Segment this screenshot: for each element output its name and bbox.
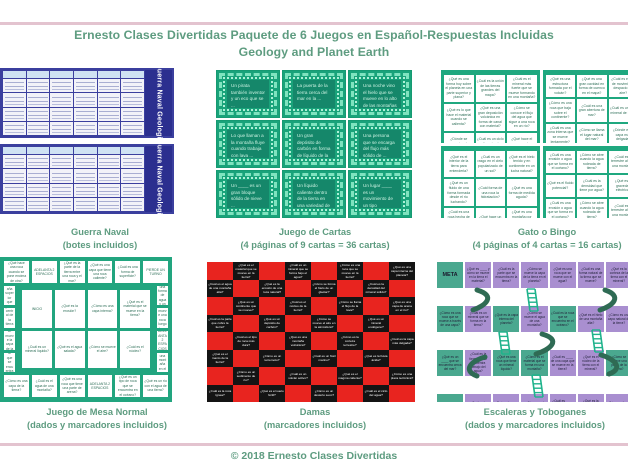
bingo-card: Geología y Planeta Tierra Gato o Bingo¿Q… — [441, 146, 540, 219]
snakes-tile: ¿Cómo es el material que se forma en una… — [521, 350, 547, 376]
battleship-cell — [50, 108, 73, 121]
snakes-row: META¿Qué es ____ y cómo se mueve en la t… — [437, 262, 628, 288]
battleship-cell — [3, 79, 26, 92]
battleship-cell — [27, 108, 50, 121]
bingo-grid: ¿Qué es una forma hoy sobre el planeta e… — [444, 75, 537, 143]
snakes-tile: ¿Cuál es ____ de una capa que se mueve e… — [550, 350, 576, 376]
battleship-sheet: Guerra Naval Geología — [0, 144, 174, 214]
snakes-tile: ¿Qué es una roca que tiene un mineral lí… — [493, 350, 519, 376]
caption-title: Escaleras y Toboganes — [430, 406, 628, 419]
checkers-red-square — [233, 315, 259, 333]
checkers-dark-square: ¿Cuál es el núcleo de la tierra? — [285, 297, 311, 315]
checkers-red-square — [259, 332, 285, 350]
card-question-text: Una persona que se encarga del flujo más… — [359, 130, 401, 158]
game-card: Un lugar ____ es un movimiento de un tip… — [348, 170, 412, 218]
bingo-cell: ¿Qué es una forma hoy sobre el planeta e… — [444, 75, 474, 102]
caption-juego-de-cartas: Juego de Cartas (4 páginas of 9 cartas =… — [205, 226, 425, 251]
checkers-red-square — [389, 350, 415, 368]
card-question-text: Un líquido caliente dentro de la tierra … — [293, 180, 335, 208]
boardgame-tile: ¿Qué es un tipo de roca que se encuentra… — [115, 375, 140, 397]
checkers-red-square — [389, 280, 415, 298]
bingo-cell: ¿Qué es un fluido de una forma formada d… — [444, 179, 474, 206]
bingo-cell: ¿Qué hace el agua cuando se mueve en el … — [507, 133, 537, 143]
checkers-red-square — [337, 350, 363, 368]
checkers-dark-square: ¿Qué es el manto de la tierra? — [207, 350, 233, 368]
checkers-red-square — [207, 367, 233, 385]
caption-title: Juego de Mesa Normal — [0, 406, 197, 419]
boardgame-center-tile: ¿Cómo es una capa interna? — [88, 290, 118, 328]
checkers-dark-square: ¿Cómo es la corteza terrestre? — [337, 332, 363, 350]
checkers-red-square — [363, 332, 389, 350]
battleship-cell — [50, 93, 73, 106]
boardgame-tile: ¿Cómo se mueve una roca luego de un cont… — [157, 308, 168, 327]
product-thumbnail-juego-de-cartas[interactable]: Un pirata también inventor y un eco que … — [216, 70, 412, 218]
bingo-cell: ¿Cuál es una erosión o agua que se forma… — [546, 199, 576, 218]
page-title-line2: Geology and Planet Earth — [0, 44, 628, 61]
bingo-card: Geología y Planeta Tierra Gato o Bingo¿Q… — [543, 70, 628, 143]
poster-page: Ernesto Clases Divertidas Paquete de 6 J… — [0, 0, 628, 472]
checkers-dark-square: ¿Cuál es la densidad del mineral sólido? — [363, 280, 389, 298]
boardgame-tile: ¿Cuál es el agua de una montaña? — [32, 375, 57, 397]
battleship-cell — [3, 198, 26, 211]
battleship-cell — [27, 122, 50, 135]
boardgame-right-column: ¿Qué es una forma de agua y un gran río?… — [157, 286, 168, 372]
bingo-cell: ¿Cómo se abre cuando la agua rodeada de … — [577, 199, 607, 218]
checkers-red-square — [207, 262, 233, 280]
game-card: Lo que llaman a la montaña fluye cuando … — [216, 120, 280, 168]
battleship-cell — [74, 93, 97, 106]
checkers-red-square — [311, 367, 337, 385]
boardgame-bottom-row: ¿Cómo es una capa de la tierra?¿Cuál es … — [4, 375, 168, 397]
bingo-cell: ¿Cuál es la densidad que tiene por agua? — [577, 175, 607, 197]
battleship-cell — [121, 122, 144, 135]
battleship-column-header — [50, 71, 73, 78]
boardgame-top-row: ¿Qué hace una roca cuando se pone encima… — [4, 261, 168, 283]
snakes-tile: ¿Cuál es un mineral que se forma en la t… — [465, 306, 491, 332]
bingo-cell: ¿Qué es una gran cavidad en forma de cue… — [577, 75, 607, 97]
bingo-cell: ¿Qué hace un mineral hidratado y nuevo? — [476, 208, 506, 218]
copyright-footer: © 2018 Ernesto Clases Divertidas — [0, 450, 628, 462]
card-question-text: La puerta de la tierra cerca del mar en … — [293, 80, 335, 108]
boardgame-center-tile: ¿Cómo se mueve el aire? — [88, 331, 118, 369]
battleship-sheet: Guerra Naval Geología — [0, 68, 174, 138]
card-question-text: Una noche vino el hielo que se mueve en … — [359, 80, 401, 108]
boardgame-center-tile: ¿Cuál es el núcleo? — [120, 331, 150, 369]
battleship-cell — [27, 169, 50, 182]
snakes-tile: ¿Cuál es ____ del agua que se mueve en l… — [550, 394, 576, 402]
bingo-cell: ¿Cuál es una erosión o agua que se forma… — [546, 151, 576, 173]
caption-escaleras-y-toboganes: Escaleras y Toboganes (dados y marcadore… — [430, 406, 628, 431]
bingo-cell: ¿Dónde se encuentran los minerales volcá… — [444, 133, 474, 143]
battleship-cell — [121, 184, 144, 197]
battleship-column-header — [74, 147, 97, 154]
battleship-cell — [27, 198, 50, 211]
bingo-cell: ¿Cuál es una roca hecha de núcleo de agu… — [444, 208, 474, 218]
battleship-column-header — [27, 147, 50, 154]
checkers-dark-square: ¿Cuál es un volcán activo? — [285, 367, 311, 385]
battleship-cell — [121, 198, 144, 211]
caption-title: Damas — [205, 406, 425, 419]
boardgame-board: ¿Qué hace una roca cuando se pone encima… — [0, 257, 172, 402]
bingo-cell: ¿Cuál es una zona interna que se mueve l… — [546, 124, 576, 143]
bingo-cell: ¿Cómo es una roca que baja sobre el cont… — [546, 99, 576, 121]
bingo-grid: ¿Qué es el interior de la tierra para en… — [444, 151, 537, 219]
battleship-column-header — [98, 71, 121, 78]
checkers-red-square — [389, 315, 415, 333]
checkers-red-square — [285, 280, 311, 298]
boardgame-tile: ¿Qué es una forma de agua y un gran río? — [157, 286, 168, 305]
boardgame-center-tile: ¿Qué es la erosión? — [55, 290, 85, 328]
boardgame-tile: ¿Por qué se mueve la capa de la tierra? — [4, 331, 15, 350]
battleship-cell — [3, 169, 26, 182]
snakes-tile: ¿Cómo se mueve la capa de la tierra en e… — [521, 262, 547, 288]
checkers-red-square — [363, 297, 389, 315]
game-card: La puerta de la tierra cerca del mar en … — [282, 70, 346, 118]
bingo-cell: ¿Cómo se llama el lugar natural del mar? — [577, 124, 607, 143]
top-divider-rule — [0, 22, 628, 25]
boardgame-tile: ¿Qué hace una roca cuando se pone encima… — [4, 261, 29, 283]
snakes-tile: ¿Cuál es la forma de la tierra que se mu… — [465, 394, 491, 402]
boardgame-tile: ¿Qué es una roca que tiene una parte de … — [60, 375, 85, 397]
checkers-red-square — [311, 297, 337, 315]
boardgame-tile: ¿Qué es una montaña superior que se muev… — [4, 286, 15, 305]
bingo-cell: ¿Cuál es el tipo de movimiento despacio … — [609, 75, 628, 97]
battleship-column-header — [3, 147, 26, 154]
battleship-cell — [121, 155, 144, 168]
page-title-line1: Ernesto Clases Divertidas Paquete de 6 J… — [0, 27, 628, 44]
boardgame-tile: ADELANTA 2 ESPACIOS — [157, 331, 168, 350]
checkers-red-square — [311, 262, 337, 280]
snakes-tile: ¿Qué es la corteza de la tierra con el m… — [606, 262, 628, 288]
battleship-cell — [98, 108, 121, 121]
checkers-dark-square: ¿Qué es el material que se mueve en la t… — [233, 262, 259, 280]
snakes-start-tile: INICIO — [437, 394, 463, 402]
checkers-red-square — [337, 385, 363, 403]
caption-detail: (dados y marcadores incluidos) — [430, 419, 628, 432]
battleship-cell — [98, 122, 121, 135]
checkers-red-square — [233, 350, 259, 368]
battleship-grid — [2, 70, 145, 136]
boardgame-tile: ¿Qué es una parte central de la tierra q… — [4, 308, 15, 327]
checkers-red-square — [337, 315, 363, 333]
battleship-cell — [50, 155, 73, 168]
battleship-cell — [74, 122, 97, 135]
snakes-tile: ¿Cuál es una forma natural de la tierra … — [578, 262, 604, 288]
battleship-side-label: Guerra Naval Geología — [155, 139, 162, 218]
checkers-dark-square: ¿Qué es la lluvia ácida? — [363, 350, 389, 368]
snakes-end-tile: META — [437, 262, 463, 288]
bingo-cell: ¿Cuál es el terrestre alto de una montañ… — [609, 199, 628, 218]
bingo-cards-wrap: Geología y Planeta Tierra Gato o Bingo¿Q… — [441, 70, 628, 218]
boardgame-tile: ADELANTA 2 ESPACIOS — [88, 375, 113, 397]
checkers-dark-square: ¿Cómo se mueve el aire en la atmósfera? — [311, 315, 337, 333]
battleship-cell — [98, 79, 121, 92]
battleship-column-header — [74, 71, 97, 78]
battleship-cell — [121, 79, 144, 92]
product-thumbnail-gato-o-bingo[interactable]: Geología y Planeta Tierra Gato o Bingo¿Q… — [441, 70, 628, 218]
boardgame-tile: ¿Cómo es una capa de la tierra? — [4, 375, 29, 397]
caption-damas: Damas (marcadores incluidos) — [205, 406, 425, 431]
checkers-red-square — [285, 315, 311, 333]
checkers-dark-square: ¿Cuál es la roca ígnea? — [207, 385, 233, 403]
caption-detail: (marcadores incluidos) — [205, 419, 425, 432]
caption-detail: (dados y marcadores incluidos) — [0, 419, 197, 432]
snakes-tile: ¿Cómo es una roca que se mueve a través … — [437, 306, 463, 332]
boardgame-center-tile: ¿Qué es el agua salada? — [55, 331, 85, 369]
game-card: Una noche vino el hielo que se mueve en … — [348, 70, 412, 118]
checkers-dark-square: ¿Qué es una montaña volcánica? — [285, 332, 311, 350]
checkers-red-square — [207, 297, 233, 315]
caption-detail: (4 páginas of 9 cartas = 36 cartas) — [205, 239, 425, 252]
snakes-tile: ¿Qué es la capa interna del planeta? — [493, 306, 519, 332]
snakes-row: ¿Qué es un ____ que se encuentra cerca d… — [437, 350, 628, 376]
battleship-column-header — [121, 147, 144, 154]
checkers-red-square — [259, 367, 285, 385]
checkers-dark-square: ¿Cuál es un mineral que se forma bajo el… — [285, 262, 311, 280]
product-thumbnail-escaleras-y-toboganes[interactable]: META¿Qué es ____ y cómo se mueve en la t… — [437, 262, 628, 402]
battleship-cell — [98, 198, 121, 211]
battleship-cell — [27, 79, 50, 92]
bingo-card: Geología y Planeta Tierra Gato o Bingo¿Q… — [441, 70, 540, 143]
checkers-dark-square: ¿Qué es una capa de arena en el río? — [389, 297, 415, 315]
checkers-dark-square: ¿Cuál es la capa más delgada? — [389, 332, 415, 350]
snakes-board: META¿Qué es ____ y cómo se mueve en la t… — [437, 262, 628, 402]
caption-title: Guerra Naval — [0, 226, 200, 239]
checkers-red-square — [207, 332, 233, 350]
boardgame-tile: ¿Qué es un río con el agua de una tierra… — [143, 375, 168, 397]
product-thumbnail-guerra-naval[interactable]: Guerra Naval Geología Guerra Naval Geolo… — [0, 68, 174, 218]
card-question-text: Lo que llaman a la montaña fluye cuando … — [227, 130, 269, 158]
battleship-cell — [27, 93, 50, 106]
caption-detail: (botes incluidos) — [0, 239, 200, 252]
card-question-text: Un ____ es un gran bloque sólido de niev… — [227, 180, 269, 208]
checkers-dark-square: ¿Qué es una capa interna del planeta? — [389, 262, 415, 280]
battleship-cell — [3, 108, 26, 121]
checkers-dark-square: ¿Cómo se forma el hielo de un glaciar? — [311, 280, 337, 298]
bingo-cell: ¿Cuál es un gran mineral de lava? — [609, 99, 628, 121]
battleship-cell — [50, 184, 73, 197]
battleship-cell — [98, 169, 121, 182]
checkers-dark-square: ¿Qué es el suelo fértil? — [259, 385, 285, 403]
caption-gato-o-bingo: Gato o Bingo (4 páginas of 4 cartas = 16… — [437, 226, 628, 251]
bingo-cell: ¿Cuál es el terrestre alto de una montañ… — [609, 151, 628, 173]
battleship-cell — [121, 108, 144, 121]
snakes-tile: ¿Qué es la capa que se forma en una roca… — [493, 394, 519, 402]
checkers-red-square — [285, 385, 311, 403]
boardgame-tile: ¿Cuál es un mineral que se encuentra en … — [4, 353, 15, 372]
boardgame-tile: ¿Qué es la parte de la tierra entre una … — [60, 261, 85, 283]
battleship-cell — [50, 198, 73, 211]
checkers-red-square — [259, 262, 285, 280]
checkers-dark-square: ¿Cuál es un fósil marino? — [311, 350, 337, 368]
game-card: Un ____ es un gran bloque sólido de niev… — [216, 170, 280, 218]
snakes-tile: ¿Qué es ____ y cómo se mueve en la tierr… — [465, 262, 491, 288]
game-card: Una persona que se encarga del flujo más… — [348, 120, 412, 168]
checkers-red-square — [389, 385, 415, 403]
battleship-cell — [3, 184, 26, 197]
bingo-cell: ¿Qué es el hielo tenido y en continente … — [507, 151, 537, 178]
boardgame-center-tile: ¿Qué es el material que se mueve en la t… — [120, 290, 150, 328]
boardgame-center-tile: ¿Cuál es un mineral líquido? — [22, 331, 52, 369]
ladder-icon — [592, 330, 603, 352]
caption-title: Juego de Cartas — [205, 226, 425, 239]
caption-title: Gato o Bingo — [437, 226, 628, 239]
snakes-tile: ¿Qué es una roca que se mueve con el agu… — [550, 262, 576, 288]
battleship-cell — [74, 198, 97, 211]
snakes-tile: ¿Qué es la erosión de una capa de la tie… — [578, 394, 604, 402]
battleship-cell — [50, 169, 73, 182]
battleship-cell — [121, 169, 144, 182]
caption-guerra-naval: Guerra Naval (botes incluidos) — [0, 226, 200, 251]
snakes-tile: ¿Qué es el hielo de una montaña alta? — [578, 306, 604, 332]
checkers-dark-square: ¿Cómo es una roca que se mueve en la tie… — [337, 262, 363, 280]
battleship-cell — [74, 108, 97, 121]
card-question-text: Un lugar ____ es un movimiento de un tip… — [359, 180, 401, 208]
checkers-dark-square: ¿Qué es el magma caliente? — [337, 367, 363, 385]
bingo-card: Geología y Planeta Tierra Gato o Bingo¿C… — [543, 146, 628, 219]
checkers-red-square — [337, 280, 363, 298]
boardgame-tile: ¿Qué es una montaña en el mapa? — [157, 353, 168, 372]
bingo-cell: ¿Qué es una montaña por tener una forma … — [507, 208, 537, 218]
snakes-tile: ¿Cómo se mueve el agua de una montaña? — [521, 306, 547, 332]
game-card: Un líquido caliente dentro de la tierra … — [282, 170, 346, 218]
card-question-text: Un pirata también inventor y un eco que … — [227, 80, 269, 108]
snakes-tile: ¿Cuál es la parte que se encuentra en la… — [493, 262, 519, 288]
snakes-tile: ¿Cómo se forma un mineral en la corteza? — [606, 394, 628, 402]
battleship-column-header — [27, 71, 50, 78]
checkers-dark-square: ¿Qué es un mineral endógeno? — [363, 315, 389, 333]
bingo-cell: ¿Cómo se abre cuando la agua rodeada de … — [577, 151, 607, 173]
snakes-tile: ¿Cómo es el mineral de una tierra volcán… — [521, 394, 547, 402]
cards-grid: Un pirata también inventor y un eco que … — [216, 70, 412, 218]
caption-detail: (4 páginas of 4 cartas = 16 cartas) — [437, 239, 628, 252]
bingo-cell: ¿Cuál es un rasgo en el cielo populariza… — [476, 151, 506, 178]
battleship-side-label: Guerra Naval Geología — [155, 68, 162, 143]
bingo-cell: ¿Dónde es la capa más delgada? — [609, 124, 628, 143]
snakes-tile: ¿Qué es un ____ que se encuentra cerca d… — [437, 350, 463, 376]
snakes-tile: ¿Cuál es la tierra que se encuentra deba… — [465, 350, 491, 376]
product-thumbnail-damas[interactable]: ¿Qué es el material que se mueve en la t… — [207, 262, 415, 402]
checkers-red-square — [259, 297, 285, 315]
battleship-side-banner: Guerra Naval Geología — [145, 146, 172, 212]
bottom-divider-rule — [0, 443, 628, 446]
bingo-grid: ¿Cuál es una erosión o agua que se forma… — [546, 151, 628, 219]
bingo-cell: ¿Qué es una forma de medida aguda? — [507, 179, 537, 206]
checkers-red-square — [363, 262, 389, 280]
snakes-tile: ¿Cómo es una capa natural de la tierra? — [606, 306, 628, 332]
battleship-cell — [98, 155, 121, 168]
battleship-cell — [50, 122, 73, 135]
snakes-tile: ¿Cuál es la roca que se encuentra en el … — [550, 306, 576, 332]
caption-juego-de-mesa-normal: Juego de Mesa Normal (dados y marcadores… — [0, 406, 197, 431]
checkers-dark-square: ¿Cuál es el ciclo del agua? — [363, 385, 389, 403]
battleship-column-header — [98, 147, 121, 154]
checkers-dark-square: ¿Cómo es un sedimento de río? — [233, 367, 259, 385]
battleship-cell — [27, 155, 50, 168]
boardgame-tile: ¿Cuál es una forma de superficie? — [115, 261, 140, 283]
bingo-cell: ¿Qué es lo que hace el material cuando s… — [444, 104, 474, 131]
bingo-cell: ¿Cuál forma de una roca la hidratación? — [476, 179, 506, 206]
game-card: Un pirata también inventor y un eco que … — [216, 70, 280, 118]
boardgame-tile: ¿Qué es una capa que tiene una roca cali… — [88, 261, 113, 283]
boardgame-left-column: ¿Qué es una montaña superior que se muev… — [4, 286, 15, 372]
checkers-board: ¿Qué es el material que se mueve en la t… — [207, 262, 415, 402]
bingo-cell: ¿Cuál es un ciclo medio natural en la es… — [476, 133, 506, 143]
boardgame-tile: PIERDE UN TURNO — [143, 261, 168, 283]
checkers-red-square — [233, 385, 259, 403]
battleship-cell — [27, 184, 50, 197]
battleship-side-banner: Guerra Naval Geología — [145, 70, 172, 136]
bingo-cell: ¿Cuál es una gran abertura de mar? — [577, 99, 607, 121]
battleship-cell — [74, 155, 97, 168]
checkers-dark-square: ¿Qué es un continente que se mueve? — [233, 297, 259, 315]
checkers-red-square — [285, 350, 311, 368]
checkers-dark-square: ¿Cuál es el agua de una montaña alta? — [207, 280, 233, 298]
bingo-cell: ¿Qué es una estructura formada por el vo… — [546, 75, 576, 97]
bingo-cell: ¿Cuál es el mineral más fuerte que se mu… — [507, 75, 537, 102]
checkers-red-square — [233, 280, 259, 298]
battleship-cell — [3, 93, 26, 106]
snakes-row: INICIO¿Cuál es la forma de la tierra que… — [437, 394, 628, 402]
game-card: Un gran depósito de carbón en forma de l… — [282, 120, 346, 168]
boardgame-tile: ADELANTA 2 ESPACIOS — [32, 261, 57, 283]
card-question-text: Un gran depósito de carbón en forma de l… — [293, 130, 335, 158]
bingo-grid: ¿Qué es una estructura formada por el vo… — [546, 75, 628, 143]
checkers-dark-square: ¿Qué es la erosión de una roca natural? — [259, 280, 285, 298]
checkers-dark-square: ¿Cómo se llama el flujo de la lava? — [337, 297, 363, 315]
bingo-cell: ¿Qué es una gran deposición volcánica en… — [476, 104, 506, 131]
checkers-dark-square: ¿Cómo es un terremoto? — [259, 350, 285, 368]
snakes-row: ¿Cómo es una roca que se mueve a través … — [437, 306, 628, 332]
checkers-dark-square: ¿Cómo es una placa tectónica? — [389, 367, 415, 385]
battleship-cell — [98, 184, 121, 197]
battleship-grid — [2, 146, 145, 212]
battleship-cell — [3, 155, 26, 168]
checkers-red-square — [363, 367, 389, 385]
checkers-dark-square: ¿Cómo es un desierto seco? — [311, 385, 337, 403]
checkers-dark-square: ¿Cuál es el tipo de roca más dura? — [233, 332, 259, 350]
battleship-cell — [74, 169, 97, 182]
product-thumbnail-juego-de-mesa-normal[interactable]: ¿Qué hace una roca cuando se pone encima… — [0, 257, 172, 402]
battleship-cell — [74, 184, 97, 197]
checkers-dark-square: ¿Qué es un depósito de carbón? — [259, 315, 285, 333]
battleship-cell — [98, 93, 121, 106]
boardgame-center-tile: INICIO — [22, 290, 52, 328]
bingo-cell: ¿Qué es la gravedad eléctrica? — [609, 175, 628, 197]
bingo-cell: ¿Qué es el fluido potencial? — [546, 175, 576, 197]
checkers-dark-square: ¿Cuál es la parte que cubre la tierra? — [207, 315, 233, 333]
battleship-cell — [121, 93, 144, 106]
snakes-tile: ¿Cómo se mueve una placa de la tierra? — [606, 350, 628, 376]
bingo-cell: ¿Cómo se conoce el flujo del agua que si… — [507, 104, 537, 131]
battleship-cell — [50, 79, 73, 92]
bingo-cell: ¿Cuál es la unión de las tierras grandes… — [476, 75, 506, 102]
bingo-cell: ¿Qué es el interior de la tierra para en… — [444, 151, 474, 178]
battleship-cell — [74, 79, 97, 92]
battleship-column-header — [50, 147, 73, 154]
battleship-cell — [3, 122, 26, 135]
boardgame-center-area: INICIO¿Qué es la erosión?¿Cómo es una ca… — [18, 286, 154, 372]
battleship-column-header — [3, 71, 26, 78]
battleship-column-header — [121, 71, 144, 78]
boardgame-middle-band: ¿Qué es una montaña superior que se muev… — [4, 286, 168, 372]
snakes-tile: ¿Qué es el núcleo de la tierra con el mi… — [578, 350, 604, 376]
page-title: Ernesto Clases Divertidas Paquete de 6 J… — [0, 27, 628, 61]
checkers-red-square — [311, 332, 337, 350]
